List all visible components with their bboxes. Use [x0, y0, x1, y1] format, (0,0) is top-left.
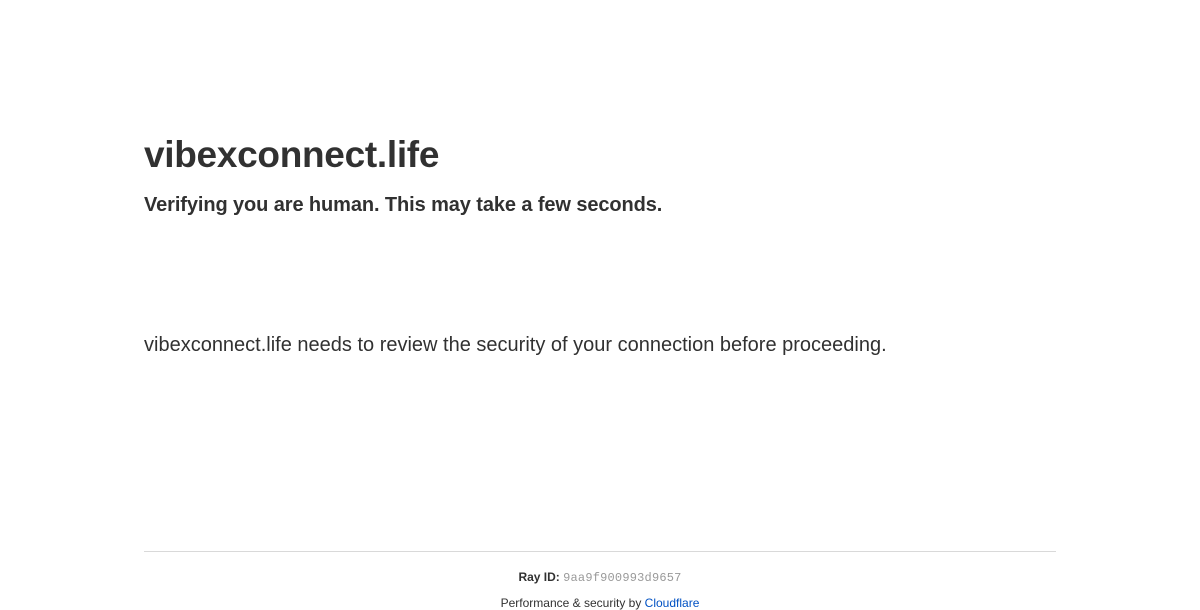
- challenge-content: vibexconnect.life Verifying you are huma…: [144, 0, 1056, 363]
- page-footer: Ray ID: 9aa9f900993d9657 Performance & s…: [144, 551, 1056, 610]
- cloudflare-link[interactable]: Cloudflare: [645, 596, 700, 610]
- ray-id-line: Ray ID: 9aa9f900993d9657: [144, 570, 1056, 585]
- turnstile-challenge-widget[interactable]: [144, 229, 444, 327]
- page-title: vibexconnect.life: [144, 132, 1056, 178]
- verification-status-text: Verifying you are human. This may take a…: [144, 191, 1056, 219]
- ray-id-label: Ray ID:: [518, 570, 559, 584]
- attribution-line: Performance & security by Cloudflare: [144, 596, 1056, 610]
- attribution-prefix: Performance & security by: [501, 596, 645, 610]
- security-review-description: vibexconnect.life needs to review the se…: [144, 327, 944, 363]
- cloudflare-challenge-page: vibexconnect.life Verifying you are huma…: [0, 0, 1200, 600]
- ray-id-value: 9aa9f900993d9657: [563, 571, 681, 585]
- main-wrap: vibexconnect.life Verifying you are huma…: [144, 0, 1056, 363]
